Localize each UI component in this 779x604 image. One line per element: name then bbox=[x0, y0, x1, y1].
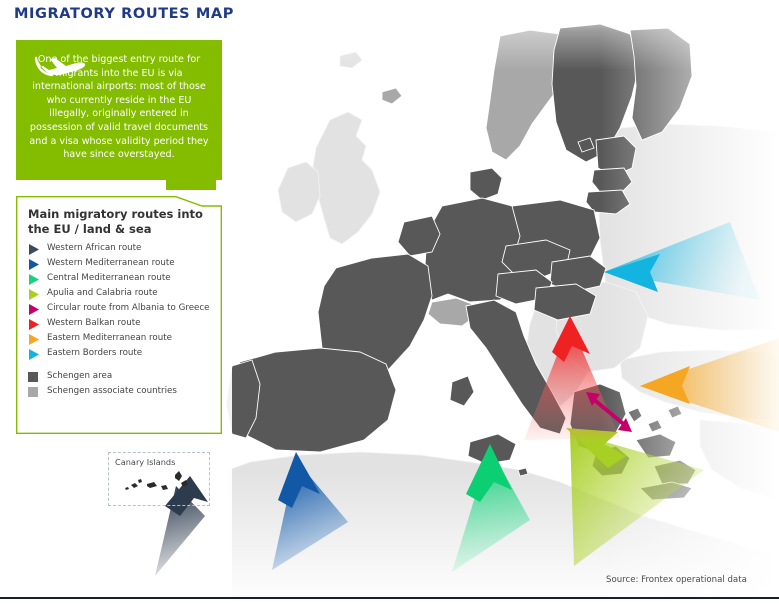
legend-item-label: Central Mediterranean route bbox=[47, 272, 171, 285]
legend-item-label: Schengen associate countries bbox=[47, 385, 177, 398]
route-arrow-icon bbox=[28, 257, 44, 271]
legend-item-label: Western African route bbox=[47, 242, 141, 255]
bottom-rule bbox=[0, 597, 779, 599]
migratory-routes-map-page: MIGRATORY ROUTES MAP One of the biggest … bbox=[0, 0, 779, 604]
route-arrow-icon bbox=[28, 242, 44, 256]
canary-islands-inset: Canary Islands bbox=[108, 452, 210, 506]
page-title: MIGRATORY ROUTES MAP bbox=[14, 6, 234, 22]
route-arrow-icon bbox=[28, 272, 44, 286]
callout-pointer-tab bbox=[166, 180, 216, 190]
legend-item-label: Western Balkan route bbox=[47, 317, 141, 330]
route-arrow-icon bbox=[28, 317, 44, 331]
legend-item-label: Eastern Mediterranean route bbox=[47, 332, 172, 345]
source-note: Source: Frontex operational data bbox=[606, 575, 747, 585]
callout-text: One of the biggest entry route for migra… bbox=[16, 40, 222, 180]
airport-entry-callout: One of the biggest entry route for migra… bbox=[16, 40, 222, 189]
legend-heading: Main migratory routes into the EU / land… bbox=[28, 207, 212, 237]
schengen-associate-swatch bbox=[28, 385, 44, 399]
legend-item-label: Western Mediterranean route bbox=[47, 257, 175, 270]
legend-spacer bbox=[28, 362, 212, 370]
legend-item-label: Eastern Borders route bbox=[47, 347, 142, 360]
legend-item-label: Circular route from Albania to Greece bbox=[47, 302, 210, 315]
route-arrow-icon bbox=[28, 347, 44, 361]
legend-item-schengen-associate[interactable]: Schengen associate countries bbox=[28, 385, 212, 399]
legend-item-western-mediterranean[interactable]: Western Mediterranean route bbox=[28, 257, 212, 271]
canary-islands-shapes bbox=[109, 453, 209, 505]
legend-item-central-mediterranean[interactable]: Central Mediterranean route bbox=[28, 272, 212, 286]
legend-item-western-african[interactable]: Western African route bbox=[28, 242, 212, 256]
legend-item-apulia-calabria[interactable]: Apulia and Calabria route bbox=[28, 287, 212, 301]
legend-panel: Main migratory routes into the EU / land… bbox=[16, 196, 222, 434]
legend-item-circular-albania-greece[interactable]: Circular route from Albania to Greece bbox=[28, 302, 212, 316]
legend-item-label: Apulia and Calabria route bbox=[47, 287, 158, 300]
route-arrow-icon bbox=[28, 332, 44, 346]
legend-item-eastern-mediterranean[interactable]: Eastern Mediterranean route bbox=[28, 332, 212, 346]
legend-item-western-balkan[interactable]: Western Balkan route bbox=[28, 317, 212, 331]
legend-item-schengen-area[interactable]: Schengen area bbox=[28, 370, 212, 384]
route-arrow-icon bbox=[28, 287, 44, 301]
legend-item-eastern-borders[interactable]: Eastern Borders route bbox=[28, 347, 212, 361]
legend-item-label: Schengen area bbox=[47, 370, 112, 383]
route-arrow-icon bbox=[28, 302, 44, 316]
schengen-area-swatch bbox=[28, 370, 44, 384]
